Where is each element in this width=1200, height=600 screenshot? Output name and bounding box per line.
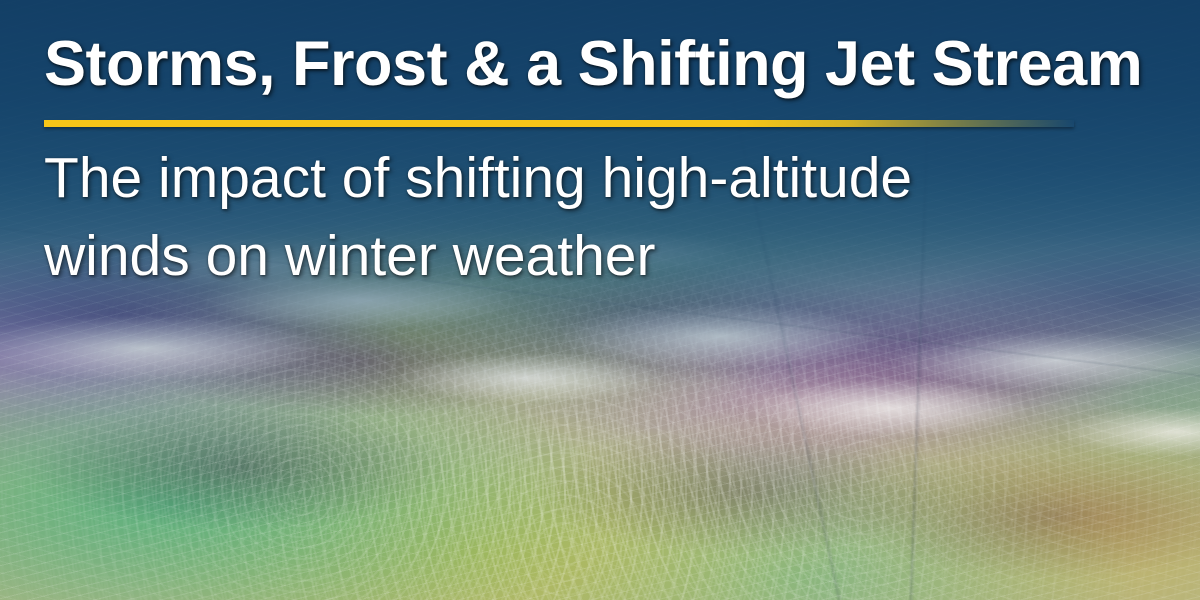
page-subtitle-line-1: The impact of shifting high-altitude xyxy=(44,140,1104,218)
accent-divider xyxy=(44,120,1074,127)
page-subtitle-line-2: winds on winter weather xyxy=(44,218,1104,296)
page-title: Storms, Frost & a Shifting Jet Stream xyxy=(44,33,1142,96)
banner-content: Storms, Frost & a Shifting Jet Stream Th… xyxy=(0,0,1200,600)
page-subtitle: The impact of shifting high-altitude win… xyxy=(44,140,1104,295)
weather-banner: Storms, Frost & a Shifting Jet Stream Th… xyxy=(0,0,1200,600)
